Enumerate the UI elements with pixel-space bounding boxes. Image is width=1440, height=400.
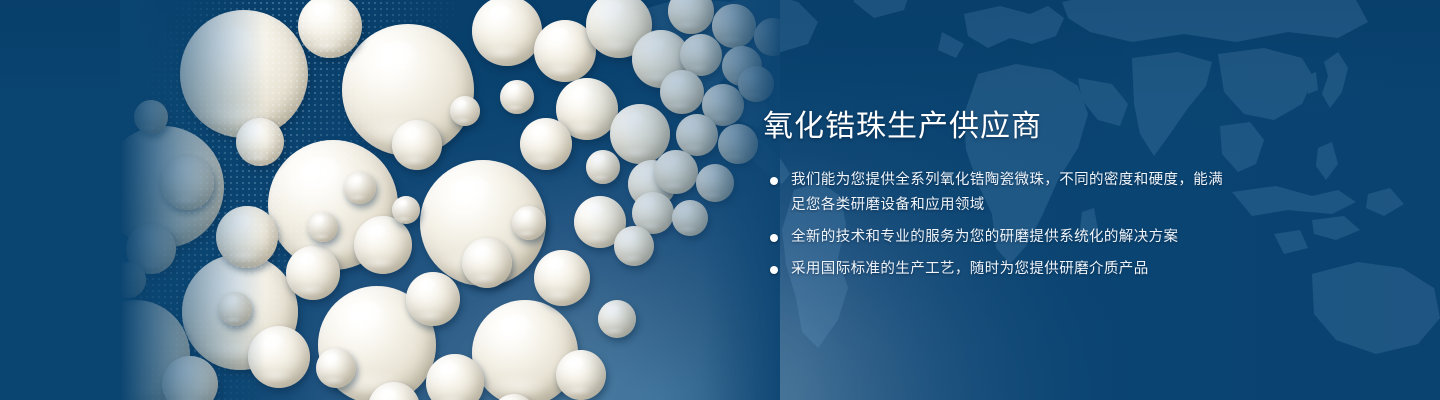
bullet-text: 采用国际标准的生产工艺，随时为您提供研磨介质产品 — [791, 261, 1149, 277]
bullet-dot-icon — [770, 177, 778, 185]
bullet-dot-icon — [770, 234, 778, 242]
bullet-item: 全新的技术和专业的服务为您的研磨提供系统化的解决方案 — [763, 225, 1233, 250]
zirconia-beads-photo — [120, 0, 780, 400]
banner-content: 氧化锆珠生产供应商 我们能为您提供全系列氧化锆陶瓷微珠，不同的密度和硬度，能满足… — [763, 108, 1233, 282]
bullet-item: 采用国际标准的生产工艺，随时为您提供研磨介质产品 — [763, 257, 1233, 282]
banner-headline: 氧化锆珠生产供应商 — [763, 108, 1233, 146]
bullet-dot-icon — [770, 266, 778, 274]
halftone-dot-fade — [120, 0, 780, 400]
hero-banner: 氧化锆珠生产供应商 我们能为您提供全系列氧化锆陶瓷微珠，不同的密度和硬度，能满足… — [0, 0, 1440, 400]
bullet-text: 全新的技术和专业的服务为您的研磨提供系统化的解决方案 — [791, 229, 1178, 245]
banner-bullet-list: 我们能为您提供全系列氧化锆陶瓷微珠，不同的密度和硬度，能满足您各类研磨设备和应用… — [763, 168, 1233, 282]
bullet-item: 我们能为您提供全系列氧化锆陶瓷微珠，不同的密度和硬度，能满足您各类研磨设备和应用… — [763, 168, 1233, 218]
bullet-text: 我们能为您提供全系列氧化锆陶瓷微珠，不同的密度和硬度，能满足您各类研磨设备和应用… — [791, 172, 1223, 213]
